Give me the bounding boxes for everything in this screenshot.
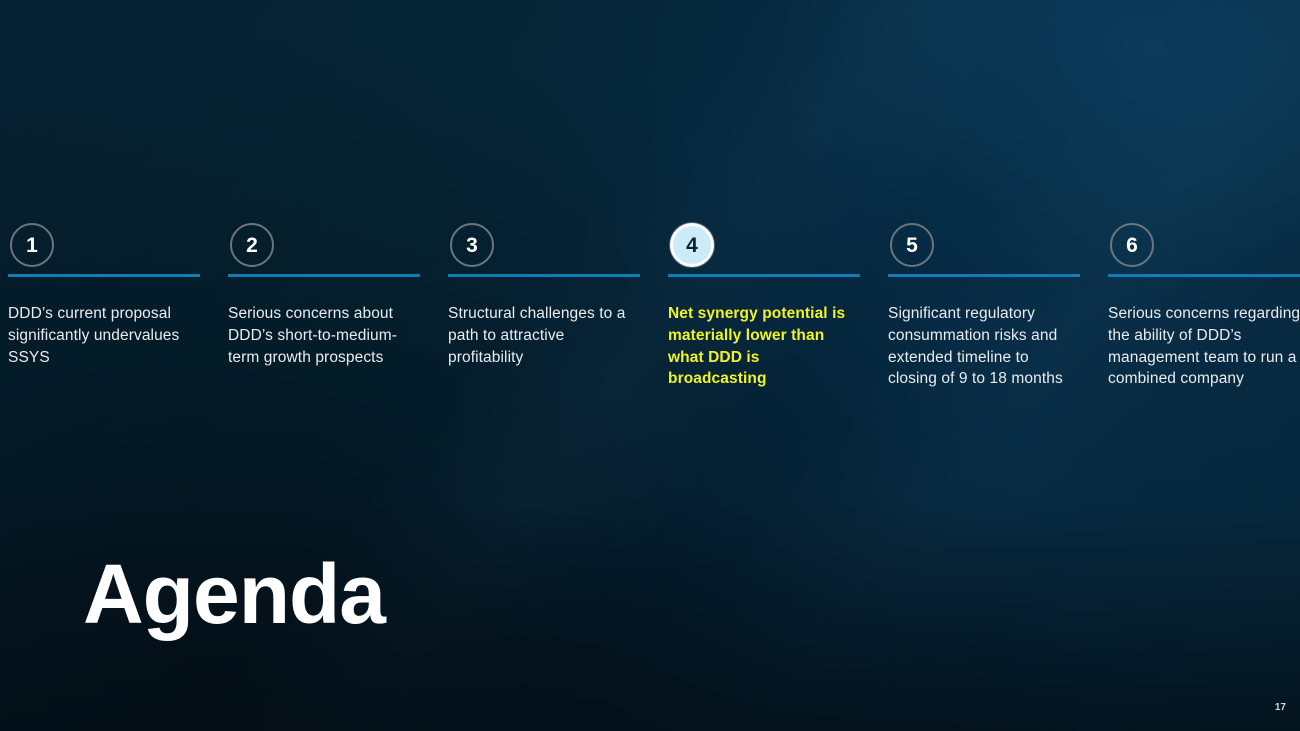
agenda-item-label: Significant regulatory consummation risk…: [888, 303, 1081, 390]
page-title: Agenda: [83, 552, 385, 636]
agenda-number-badge: 1: [10, 223, 54, 267]
agenda-number-badge: 5: [890, 223, 934, 267]
agenda-number-badge: 2: [230, 223, 274, 267]
agenda-item-label: Serious concerns about DDD’s short-to-me…: [228, 303, 421, 368]
agenda-item-2[interactable]: 2Serious concerns about DDD’s short-to-m…: [228, 223, 448, 390]
agenda-number-badge: 6: [1110, 223, 1154, 267]
agenda-divider-rule: [448, 274, 640, 277]
agenda-number-badge: 4: [670, 223, 714, 267]
agenda-item-1[interactable]: 1DDD’s current proposal significantly un…: [8, 223, 228, 390]
page-number: 17: [1275, 702, 1286, 713]
agenda-items-row: 1DDD’s current proposal significantly un…: [8, 223, 1292, 390]
agenda-item-3[interactable]: 3Structural challenges to a path to attr…: [448, 223, 668, 390]
agenda-item-label: DDD’s current proposal significantly und…: [8, 303, 201, 368]
agenda-item-4[interactable]: 4Net synergy potential is materially low…: [668, 223, 888, 390]
agenda-divider-rule: [1108, 274, 1300, 277]
agenda-divider-rule: [8, 274, 200, 277]
agenda-item-label: Serious concerns regarding the ability o…: [1108, 303, 1300, 390]
presentation-slide: 1DDD’s current proposal significantly un…: [0, 0, 1300, 731]
agenda-divider-rule: [888, 274, 1080, 277]
agenda-divider-rule: [228, 274, 420, 277]
agenda-item-6[interactable]: 6Serious concerns regarding the ability …: [1108, 223, 1300, 390]
agenda-item-label: Net synergy potential is materially lowe…: [668, 303, 861, 390]
agenda-item-label: Structural challenges to a path to attra…: [448, 303, 641, 368]
agenda-divider-rule: [668, 274, 860, 277]
agenda-number-badge: 3: [450, 223, 494, 267]
agenda-item-5[interactable]: 5Significant regulatory consummation ris…: [888, 223, 1108, 390]
